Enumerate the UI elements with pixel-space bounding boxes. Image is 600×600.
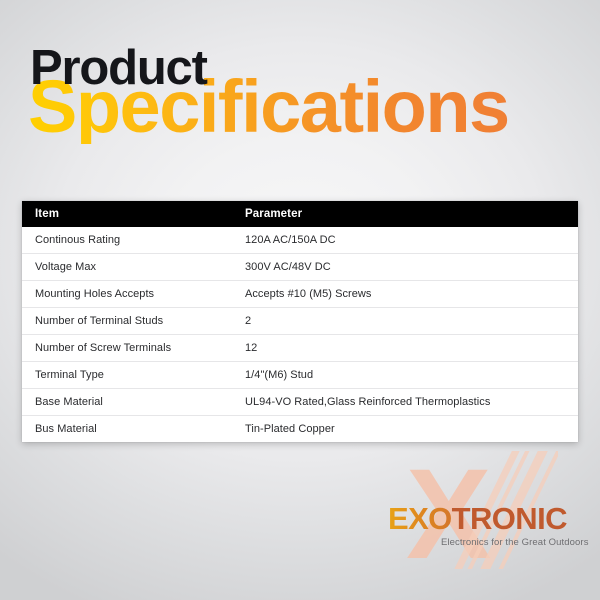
cell-item: Base Material <box>22 389 245 416</box>
table-header-row: Item Parameter <box>22 201 578 227</box>
cell-parameter: UL94-VO Rated,Glass Reinforced Thermopla… <box>245 389 578 416</box>
cell-item: Voltage Max <box>22 254 245 281</box>
table-body: Continous Rating 120A AC/150A DC Voltage… <box>22 227 578 442</box>
table-row: Bus Material Tin-Plated Copper <box>22 416 578 443</box>
cell-parameter: Tin-Plated Copper <box>245 416 578 443</box>
logo-tagline: Electronics for the Great Outdoors <box>441 537 589 548</box>
cell-item: Terminal Type <box>22 362 245 389</box>
specifications-table: Item Parameter Continous Rating 120A AC/… <box>22 201 578 442</box>
logo-wordmark-exo: EXO <box>388 501 452 536</box>
cell-item: Mounting Holes Accepts <box>22 281 245 308</box>
table-row: Voltage Max 300V AC/48V DC <box>22 254 578 281</box>
cell-item: Continous Rating <box>22 227 245 254</box>
table-row: Mounting Holes Accepts Accepts #10 (M5) … <box>22 281 578 308</box>
page-title-primary: Product <box>30 44 207 93</box>
cell-parameter: 300V AC/48V DC <box>245 254 578 281</box>
cell-parameter: 1/4"(M6) Stud <box>245 362 578 389</box>
page-title: Product Specifications <box>28 44 588 154</box>
cell-parameter: 12 <box>245 335 578 362</box>
table-row: Continous Rating 120A AC/150A DC <box>22 227 578 254</box>
cell-parameter: 120A AC/150A DC <box>245 227 578 254</box>
cell-item: Number of Terminal Studs <box>22 308 245 335</box>
cell-parameter: Accepts #10 (M5) Screws <box>245 281 578 308</box>
column-header-parameter: Parameter <box>245 201 578 227</box>
table-row: Number of Terminal Studs 2 <box>22 308 578 335</box>
table-header: Item Parameter <box>22 201 578 227</box>
column-header-item: Item <box>22 201 245 227</box>
logo-wordmark-tronic: TRONIC <box>452 501 567 536</box>
cell-item: Number of Screw Terminals <box>22 335 245 362</box>
specification-sheet: Product Specifications Item Parameter Co… <box>0 0 600 600</box>
logo-wordmark: EXOTRONIC <box>388 503 567 534</box>
table-row: Base Material UL94-VO Rated,Glass Reinfo… <box>22 389 578 416</box>
brand-logo: X EXOTRONIC Electronics for the Great Ou… <box>388 455 593 567</box>
table-row: Terminal Type 1/4"(M6) Stud <box>22 362 578 389</box>
specifications-card: Item Parameter Continous Rating 120A AC/… <box>22 201 578 442</box>
table-row: Number of Screw Terminals 12 <box>22 335 578 362</box>
cell-parameter: 2 <box>245 308 578 335</box>
cell-item: Bus Material <box>22 416 245 443</box>
